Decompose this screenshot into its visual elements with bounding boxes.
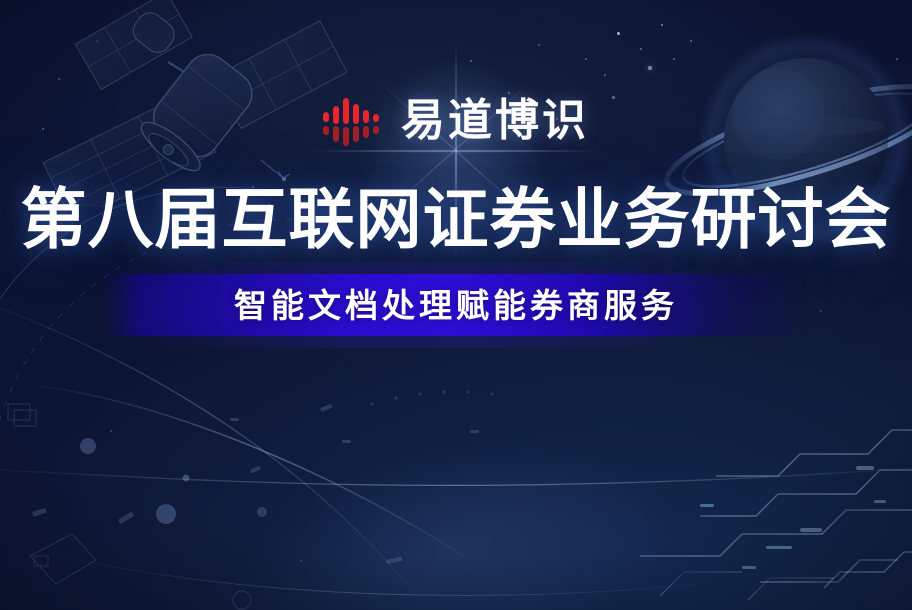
subtitle-band: 智能文档处理赋能券商服务 [106, 274, 806, 336]
page-subtitle: 智能文档处理赋能券商服务 [234, 289, 678, 322]
yidaoboshi-bar-grid-logo-icon [323, 96, 379, 146]
event-poster: 易道博识 第八届互联网证券业务研讨会 智能文档处理赋能券商服务 [0, 0, 912, 610]
page-title: 第八届互联网证券业务研讨会 [21, 186, 892, 252]
poster-content: 易道博识 第八届互联网证券业务研讨会 智能文档处理赋能券商服务 [0, 0, 912, 610]
brand-logo: 易道博识 [323, 96, 589, 146]
brand-name: 易道博识 [401, 99, 589, 143]
